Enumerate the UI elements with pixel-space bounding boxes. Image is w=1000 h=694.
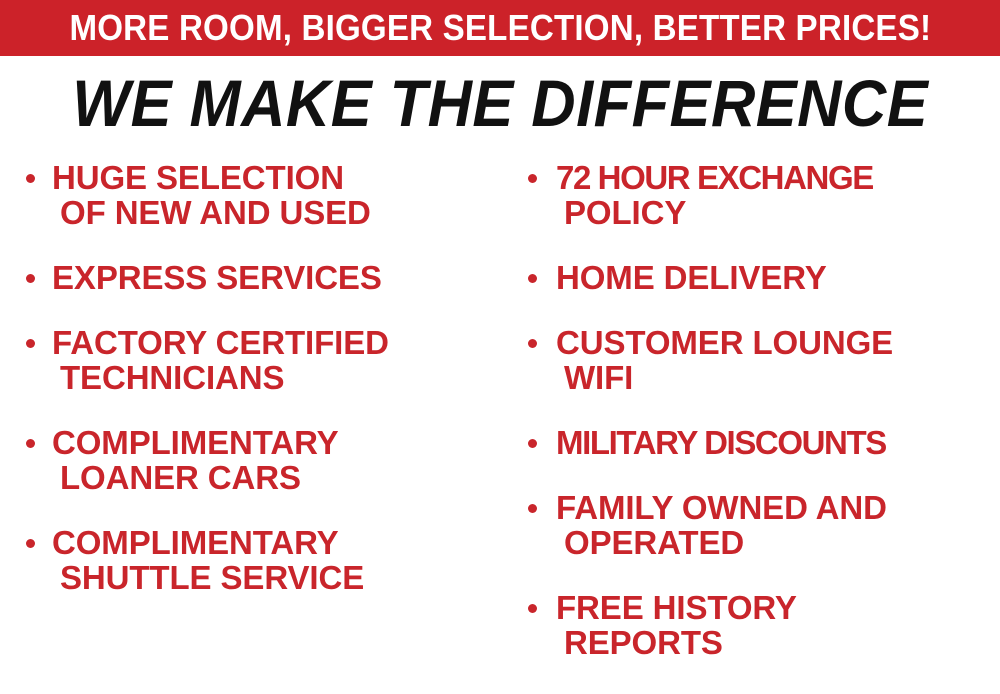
list-item: COMPLIMENTARYLOANER CARS	[0, 425, 500, 495]
list-item-line-2: POLICY	[556, 195, 1000, 230]
list-item-line-1: MILITARY DISCOUNTS	[556, 424, 886, 461]
list-item-label: FAMILY OWNED ANDOPERATED	[556, 490, 1000, 560]
list-item-line-1: COMPLIMENTARY	[52, 424, 339, 461]
feature-column-left: HUGE SELECTIONOF NEW AND USEDEXPRESS SER…	[0, 160, 500, 625]
banner-headline-text: MORE ROOM, BIGGER SELECTION, BETTER PRIC…	[69, 10, 931, 46]
list-item-line-1: HUGE SELECTION	[52, 159, 344, 196]
list-item-label: HOME DELIVERY	[556, 260, 1000, 295]
advertisement-poster: MORE ROOM, BIGGER SELECTION, BETTER PRIC…	[0, 0, 1000, 694]
list-item-line-1: 72 HOUR EXCHANGE	[556, 159, 873, 196]
list-item: CUSTOMER LOUNGEWIFI	[500, 325, 1000, 395]
list-item: HUGE SELECTIONOF NEW AND USED	[0, 160, 500, 230]
list-item-line-2: OPERATED	[556, 525, 1000, 560]
page-title: WE MAKE THE DIFFERENCE	[72, 70, 928, 136]
bullet-dot-icon	[528, 274, 537, 283]
list-item: MILITARY DISCOUNTS	[500, 425, 1000, 460]
bullet-dot-icon	[26, 339, 35, 348]
feature-column-right: 72 HOUR EXCHANGEPOLICYHOME DELIVERYCUSTO…	[500, 160, 1000, 690]
list-item: FAMILY OWNED ANDOPERATED	[500, 490, 1000, 560]
list-item-line-1: EXPRESS SERVICES	[52, 259, 382, 296]
list-item: HOME DELIVERY	[500, 260, 1000, 295]
list-item-label: CUSTOMER LOUNGEWIFI	[556, 325, 1000, 395]
list-item: COMPLIMENTARYSHUTTLE SERVICE	[0, 525, 500, 595]
list-item: 72 HOUR EXCHANGEPOLICY	[500, 160, 1000, 230]
bullet-dot-icon	[528, 504, 537, 513]
bullet-dot-icon	[26, 274, 35, 283]
list-item-line-1: FACTORY CERTIFIED	[52, 324, 389, 361]
bullet-dot-icon	[528, 604, 537, 613]
list-item: FREE HISTORYREPORTS	[500, 590, 1000, 660]
list-item-line-1: CUSTOMER LOUNGE	[556, 324, 893, 361]
list-item-label: 72 HOUR EXCHANGEPOLICY	[556, 160, 1000, 230]
list-item: EXPRESS SERVICES	[0, 260, 500, 295]
list-item-label: MILITARY DISCOUNTS	[556, 425, 1000, 460]
list-item: FACTORY CERTIFIEDTECHNICIANS	[0, 325, 500, 395]
list-item-label: FACTORY CERTIFIEDTECHNICIANS	[52, 325, 500, 395]
list-item-line-2: SHUTTLE SERVICE	[52, 560, 500, 595]
list-item-line-1: FREE HISTORY	[556, 589, 797, 626]
top-banner: MORE ROOM, BIGGER SELECTION, BETTER PRIC…	[0, 0, 1000, 56]
list-item-label: COMPLIMENTARYSHUTTLE SERVICE	[52, 525, 500, 595]
list-item-line-1: FAMILY OWNED AND	[556, 489, 887, 526]
bullet-dot-icon	[528, 174, 537, 183]
list-item-line-1: HOME DELIVERY	[556, 259, 827, 296]
list-item-label: FREE HISTORYREPORTS	[556, 590, 1000, 660]
list-item-label: EXPRESS SERVICES	[52, 260, 500, 295]
list-item-label: COMPLIMENTARYLOANER CARS	[52, 425, 500, 495]
feature-columns: HUGE SELECTIONOF NEW AND USEDEXPRESS SER…	[0, 160, 1000, 694]
list-item-label: HUGE SELECTIONOF NEW AND USED	[52, 160, 500, 230]
headline-container: WE MAKE THE DIFFERENCE	[0, 66, 1000, 140]
list-item-line-2: WIFI	[556, 360, 1000, 395]
bullet-dot-icon	[26, 439, 35, 448]
bullet-dot-icon	[528, 339, 537, 348]
list-item-line-2: OF NEW AND USED	[52, 195, 500, 230]
list-item-line-2: REPORTS	[556, 625, 1000, 660]
bullet-dot-icon	[26, 539, 35, 548]
list-item-line-2: TECHNICIANS	[52, 360, 500, 395]
bullet-dot-icon	[528, 439, 537, 448]
list-item-line-2: LOANER CARS	[52, 460, 500, 495]
bullet-dot-icon	[26, 174, 35, 183]
list-item-line-1: COMPLIMENTARY	[52, 524, 339, 561]
